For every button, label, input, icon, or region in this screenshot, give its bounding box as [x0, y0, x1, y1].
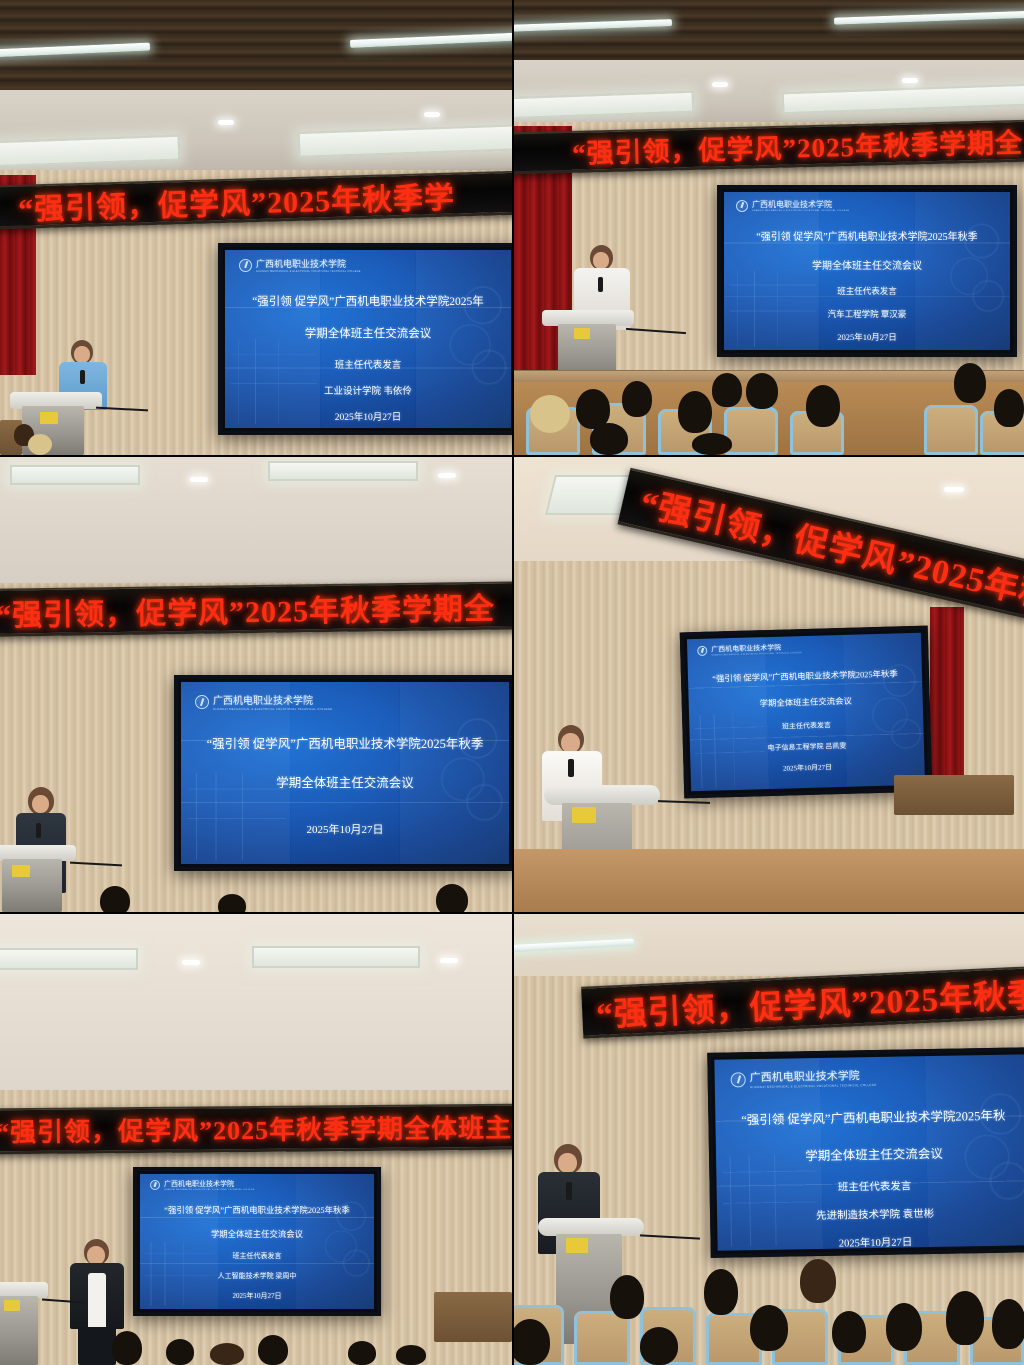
logo-subtext: GUANGXI MECHANICAL & ELECTRICAL VOCATION…	[256, 270, 361, 273]
recessed-panel-light	[0, 948, 138, 970]
slide-date: 2025年10月27日	[307, 821, 384, 837]
logo-text: 广西机电职业技术学院	[752, 199, 849, 210]
slide-role-label: 班主任代表发言	[838, 1178, 912, 1194]
microphone	[566, 1182, 572, 1200]
slide-title-line1: “强引领 促学风”广西机电职业技术学院2025年秋季	[207, 733, 484, 752]
college-logo: 广西机电职业技术学院 GUANGXI MECHANICAL & ELECTRIC…	[697, 642, 802, 657]
audience-head	[750, 1305, 788, 1351]
slide-role-label: 班主任代表发言	[837, 285, 897, 297]
presentation-slide: 广西机电职业技术学院 GUANGXI MECHANICAL & ELECTRIC…	[687, 633, 925, 791]
video-wall: 广西机电职业技术学院 GUANGXI MECHANICAL & ELECTRIC…	[717, 185, 1017, 357]
side-desk	[894, 775, 1014, 815]
audience-head	[258, 1335, 288, 1365]
led-banner-text: “强引领，促学风”2025年秋季学期全体班主任会	[0, 1107, 512, 1149]
slide-date: 2025年10月27日	[783, 762, 832, 773]
speaker-face	[558, 1153, 577, 1173]
led-banner: “强引领，促学风”2025年秋季学期全体班主任会	[0, 1104, 512, 1155]
podium-emblem	[572, 807, 596, 823]
presentation-slide: 广西机电职业技术学院 GUANGXI MECHANICAL & ELECTRIC…	[724, 192, 1010, 350]
photo-collage: “强引领，促学风”2025年秋季学 广西机电职业技术学院 GUANGXI MEC…	[0, 0, 1024, 1365]
panel-2: “强引领，促学风”2025年秋季学期全 广西机电职业技术学院 GUANGXI M…	[514, 0, 1024, 455]
speaker-face	[32, 795, 49, 813]
audience-head	[704, 1269, 738, 1315]
slide-date: 2025年10月27日	[837, 331, 897, 343]
audience-head	[210, 1343, 244, 1365]
recessed-panel-light	[252, 946, 420, 968]
downlight	[712, 82, 728, 87]
presentation-slide: 广西机电职业技术学院 GUANGXI MECHANICAL & ELECTRIC…	[140, 1174, 374, 1309]
speaker-face	[74, 346, 90, 363]
slide-title-line2: 学期全体班主任交流会议	[276, 772, 414, 791]
podium-desktop	[544, 785, 660, 805]
video-wall: 广西机电职业技术学院 GUANGXI MECHANICAL & ELECTRIC…	[680, 626, 933, 799]
slide-title-line1: “强引领 促学风”广西机电职业技术学院2025年秋季	[164, 1204, 349, 1216]
audience-head	[610, 1275, 644, 1319]
microphone	[568, 759, 574, 777]
ceiling-soffit	[0, 914, 512, 1096]
slide-role-label: 班主任代表发言	[782, 720, 831, 731]
logo-icon	[239, 259, 252, 272]
audience-area	[514, 363, 1024, 455]
ceiling	[514, 0, 1024, 62]
logo-subtext: GUANGXI MECHANICAL & ELECTRICAL VOCATION…	[213, 707, 332, 711]
led-banner-text: “强引领，促学风”2025年秋季学期全	[0, 583, 495, 634]
college-logo: 广西机电职业技术学院 GUANGXI MECHANICAL & ELECTRIC…	[731, 1067, 877, 1090]
audience-head	[396, 1345, 426, 1365]
logo-icon	[731, 1072, 746, 1087]
logo-text: 广西机电职业技术学院	[256, 257, 361, 270]
microphone	[80, 370, 85, 384]
speaker-face	[593, 252, 609, 269]
audience-area	[0, 1305, 512, 1365]
podium-emblem	[40, 412, 58, 424]
video-wall: 广西机电职业技术学院 GUANGXI MECHANICAL & ELECTRIC…	[174, 675, 512, 871]
audience-head	[640, 1327, 678, 1365]
slide-speaker: 汽车工程学院 覃汉豪	[828, 308, 907, 320]
video-wall: 广西机电职业技术学院 GUANGXI MECHANICAL & ELECTRIC…	[707, 1047, 1024, 1258]
audience-area	[0, 872, 512, 912]
slide-title-line1: “强引领 促学风”广西机电职业技术学院2025年秋	[741, 1105, 1006, 1129]
led-banner: “强引领，促学风”2025年秋季学期全	[0, 581, 512, 636]
video-wall: 广西机电职业技术学院 GUANGXI MECHANICAL & ELECTRIC…	[218, 243, 512, 435]
slide-speaker: 先进制造技术学院 袁世彬	[816, 1206, 934, 1223]
college-logo: 广西机电职业技术学院 GUANGXI MECHANICAL & ELECTRIC…	[195, 692, 332, 711]
auditorium-seat	[574, 1311, 630, 1365]
college-logo: 广西机电职业技术学院 GUANGXI MECHANICAL & ELECTRIC…	[736, 199, 849, 212]
presentation-slide: 广西机电职业技术学院 GUANGXI MECHANICAL & ELECTRIC…	[714, 1054, 1024, 1250]
panel-5: “强引领，促学风”2025年秋季学期全体班主任会 广西机电职业技术学院 GUAN…	[0, 914, 512, 1365]
slide-speaker: 电子信息工程学院 吕凯雯	[767, 741, 846, 753]
microphone	[598, 277, 603, 292]
audience-head-hat	[530, 395, 570, 433]
logo-icon	[150, 1180, 160, 1190]
downlight	[424, 112, 440, 117]
logo-text: 广西机电职业技术学院	[164, 1179, 255, 1189]
collage-seam-horizontal	[0, 912, 1024, 914]
downlight	[190, 477, 208, 482]
podium-emblem	[574, 328, 590, 339]
panel-6: “强引领，促学风”2025年秋季 广西机电职业技术学院 GUANGXI MECH…	[514, 914, 1024, 1365]
auditorium-seat	[924, 405, 978, 455]
microphone	[36, 823, 41, 838]
college-logo: 广西机电职业技术学院 GUANGXI MECHANICAL & ELECTRIC…	[239, 257, 361, 273]
collage-seam-horizontal	[0, 455, 1024, 457]
audience-head	[590, 423, 628, 455]
audience-head	[886, 1303, 922, 1351]
logo-icon	[195, 695, 209, 709]
audience-head	[712, 373, 742, 407]
slide-title-line2: 学期全体班主任交流会议	[760, 695, 852, 710]
audience-head	[678, 391, 712, 433]
downlight	[438, 473, 456, 478]
audience-head	[514, 1319, 550, 1365]
led-banner-text: “强引领，促学风”2025年秋季学期全	[572, 121, 1024, 171]
floor	[514, 849, 1024, 912]
slide-date: 2025年10月27日	[233, 1291, 282, 1301]
slide-date: 2025年10月27日	[335, 409, 402, 423]
logo-text: 广西机电职业技术学院	[213, 692, 332, 707]
panel-3: “强引领，促学风”2025年秋季学期全 广西机电职业技术学院 GUANGXI M…	[0, 457, 512, 912]
panel-1: “强引领，促学风”2025年秋季学 广西机电职业技术学院 GUANGXI MEC…	[0, 0, 512, 455]
panel-4: “强引领，促学风”2025年秋季学期 广西机电职业技术学院 GUANGXI ME…	[514, 457, 1024, 912]
recessed-panel-light	[10, 465, 140, 485]
downlight	[182, 960, 200, 965]
downlight	[218, 120, 234, 125]
downlight	[944, 487, 964, 492]
audience-head	[946, 1291, 984, 1345]
slide-title-line1: “强引领 促学风”广西机电职业技术学院2025年秋季	[756, 228, 977, 243]
slide-role-label: 班主任代表发言	[335, 357, 402, 371]
recessed-panel-light	[268, 461, 418, 481]
slide-title-line1: “强引领 促学风”广西机电职业技术学院2025年秋季	[712, 667, 898, 684]
audience-area	[514, 1233, 1024, 1365]
slide-role-label: 班主任代表发言	[233, 1251, 282, 1261]
auditorium-seat	[724, 407, 778, 455]
logo-subtext: GUANGXI MECHANICAL & ELECTRICAL VOCATION…	[750, 1083, 877, 1089]
logo-icon	[697, 646, 707, 656]
presentation-slide: 广西机电职业技术学院 GUANGXI MECHANICAL & ELECTRIC…	[181, 682, 509, 864]
presentation-slide: 广西机电职业技术学院 GUANGXI MECHANICAL & ELECTRIC…	[225, 250, 511, 428]
audience-head	[112, 1331, 142, 1365]
audience-head	[692, 433, 732, 455]
slide-title-line1: “强引领 促学风”广西机电职业技术学院2025年	[252, 293, 484, 309]
audience-head	[348, 1341, 376, 1365]
college-logo: 广西机电职业技术学院 GUANGXI MECHANICAL & ELECTRIC…	[150, 1179, 255, 1191]
audience-head	[622, 381, 652, 417]
collage-seam-vertical	[512, 0, 514, 1365]
audience-head-hat	[28, 434, 52, 455]
slide-speaker: 工业设计学院 韦依伶	[324, 383, 412, 397]
audience-head	[992, 1299, 1024, 1349]
audience-head	[100, 886, 130, 912]
audience-head	[994, 389, 1024, 427]
logo-subtext: GUANGXI MECHANICAL & ELECTRICAL VOCATION…	[164, 1189, 255, 1191]
audience-head	[800, 1259, 836, 1303]
stage-curtain	[930, 607, 964, 797]
audience-head	[954, 363, 986, 403]
slide-title-line2: 学期全体班主任交流会议	[211, 1228, 303, 1240]
downlight	[902, 78, 918, 83]
audience-head	[218, 894, 246, 912]
slide-title-line2: 学期全体班主任交流会议	[812, 257, 922, 272]
slide-title-line2: 学期全体班主任交流会议	[805, 1143, 943, 1164]
video-wall: 广西机电职业技术学院 GUANGXI MECHANICAL & ELECTRIC…	[133, 1167, 381, 1316]
downlight	[440, 958, 458, 963]
audience-head	[806, 385, 840, 427]
slide-speaker: 人工智能技术学院 梁周中	[218, 1271, 297, 1281]
logo-subtext: GUANGXI MECHANICAL & ELECTRICAL VOCATION…	[752, 210, 849, 212]
audience-head	[166, 1339, 194, 1365]
slide-title-line2: 学期全体班主任交流会议	[305, 325, 432, 341]
audience-head	[832, 1311, 866, 1353]
audience-head	[436, 884, 468, 912]
logo-icon	[736, 200, 748, 212]
audience-head	[746, 373, 778, 409]
speaker-face	[561, 733, 580, 753]
